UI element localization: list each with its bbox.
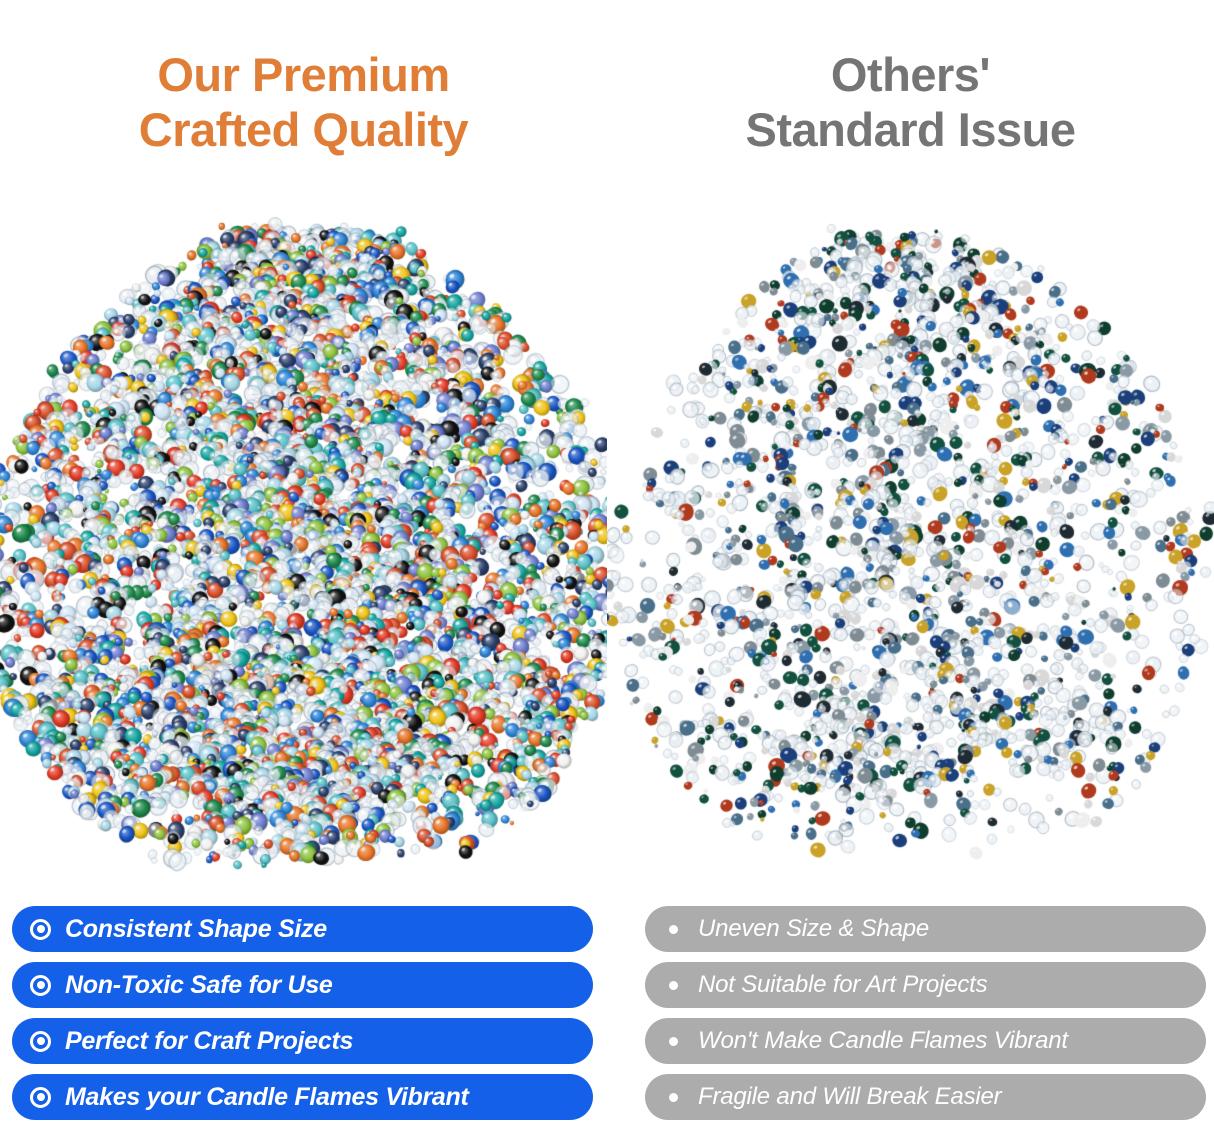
premium-heading: Our Premium Crafted Quality: [0, 47, 607, 158]
premium-bead-pile-canvas: [0, 205, 607, 885]
others-product-image: [607, 205, 1214, 885]
others-bead-pile-canvas: [607, 205, 1214, 885]
others-drawback-list: Uneven Size & Shape Not Suitable for Art…: [645, 906, 1206, 1120]
feature-pill-craft-projects[interactable]: Perfect for Craft Projects: [12, 1018, 593, 1064]
radio-selected-icon: [30, 919, 51, 940]
product-comparison-board: Our Premium Crafted Quality Consistent S…: [0, 0, 1214, 1133]
drawback-pill-not-suitable-art[interactable]: Not Suitable for Art Projects: [645, 962, 1206, 1008]
bullet-dot-icon: [663, 925, 684, 934]
premium-feature-list: Consistent Shape Size Non-Toxic Safe for…: [12, 906, 595, 1120]
drawback-pill-wont-make-flames-vibrant[interactable]: Won't Make Candle Flames Vibrant: [645, 1018, 1206, 1064]
premium-product-image: [0, 205, 607, 885]
feature-pill-consistent-shape-size[interactable]: Consistent Shape Size: [12, 906, 593, 952]
drawback-pill-label: Fragile and Will Break Easier: [698, 1083, 1001, 1111]
feature-pill-label: Perfect for Craft Projects: [65, 1027, 353, 1056]
radio-selected-icon: [30, 1031, 51, 1052]
bullet-dot-icon: [663, 1093, 684, 1102]
drawback-pill-uneven-size-shape[interactable]: Uneven Size & Shape: [645, 906, 1206, 952]
feature-pill-non-toxic[interactable]: Non-Toxic Safe for Use: [12, 962, 593, 1008]
bullet-dot-icon: [663, 981, 684, 990]
feature-pill-label: Makes your Candle Flames Vibrant: [65, 1083, 469, 1112]
radio-selected-icon: [30, 1087, 51, 1108]
drawback-pill-label: Won't Make Candle Flames Vibrant: [698, 1027, 1068, 1055]
feature-pill-label: Non-Toxic Safe for Use: [65, 971, 333, 1000]
radio-selected-icon: [30, 975, 51, 996]
drawback-pill-label: Uneven Size & Shape: [698, 915, 929, 943]
bullet-dot-icon: [663, 1037, 684, 1046]
feature-pill-candle-flames-vibrant[interactable]: Makes your Candle Flames Vibrant: [12, 1074, 593, 1120]
premium-column: Our Premium Crafted Quality Consistent S…: [0, 0, 607, 1133]
standard-heading: Others' Standard Issue: [607, 47, 1214, 158]
drawback-pill-fragile[interactable]: Fragile and Will Break Easier: [645, 1074, 1206, 1120]
drawback-pill-label: Not Suitable for Art Projects: [698, 971, 987, 999]
others-column: Others' Standard Issue Uneven Size & Sha…: [607, 0, 1214, 1133]
feature-pill-label: Consistent Shape Size: [65, 915, 327, 944]
